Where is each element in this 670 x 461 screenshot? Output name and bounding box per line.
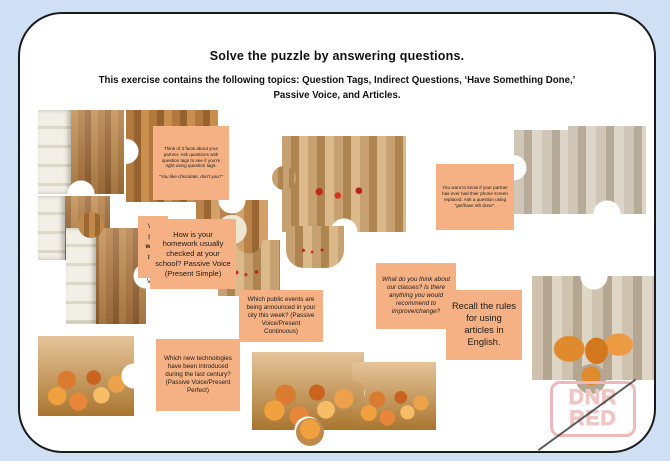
watermark-logo: DNR RED	[550, 381, 636, 437]
card-feedback-text: What do you think about our classes? Is …	[381, 276, 451, 316]
card-articles[interactable]: Recall the rules for using articles in E…	[446, 290, 522, 360]
card-have-something-done-text: You want to know if your partner has eve…	[441, 185, 509, 209]
puzzle-piece-fence-right	[568, 126, 646, 214]
puzzle-piece-pumpkins-right	[352, 362, 436, 430]
puzzle-piece-window-pumpkin	[66, 228, 146, 324]
card-passive-present-perfect[interactable]: Which new technologies have been introdu…	[156, 339, 240, 411]
card-question-tags-example: "You like chocolate, don't you?"	[159, 174, 223, 180]
screenshot-root: Solve the puzzle by answering questions.…	[0, 0, 670, 461]
card-passive-present-simple[interactable]: How is your homework usually checked at …	[150, 219, 236, 289]
card-question-tags[interactable]: Think of 3 facts about your partner. Ask…	[153, 126, 229, 200]
watermark-line-2: RED	[569, 409, 616, 430]
worksheet-sheet: Solve the puzzle by answering questions.…	[18, 12, 656, 453]
card-passive-present-perfect-text: Which new technologies have been introdu…	[161, 355, 235, 395]
card-feedback[interactable]: What do you think about our classes? Is …	[376, 263, 456, 329]
page-title: Solve the puzzle by answering questions.	[20, 49, 654, 63]
card-passive-present-continuous[interactable]: Which public events are being announced …	[239, 290, 323, 342]
page-subtitle: This exercise contains the following top…	[80, 74, 594, 103]
puzzle-knob-pumpkin-center	[296, 418, 324, 446]
watermark-line-1: DNR	[569, 388, 618, 409]
card-passive-present-simple-text: How is your homework usually checked at …	[155, 230, 231, 279]
puzzle-knob-left	[78, 212, 104, 238]
puzzle-knob-berries	[272, 166, 296, 190]
puzzle-piece-berries-lower	[286, 226, 344, 268]
card-question-tags-text: Think of 3 facts about your partner. Ask…	[158, 146, 224, 170]
card-articles-text: Recall the rules for using articles in E…	[451, 301, 517, 349]
card-have-something-done[interactable]: You want to know if your partner has eve…	[436, 164, 514, 230]
puzzle-piece-berries-top	[282, 136, 406, 232]
card-passive-present-continuous-text: Which public events are being announced …	[244, 296, 318, 336]
puzzle-piece-window	[38, 110, 124, 194]
puzzle-piece-pumpkins-left	[38, 336, 134, 416]
